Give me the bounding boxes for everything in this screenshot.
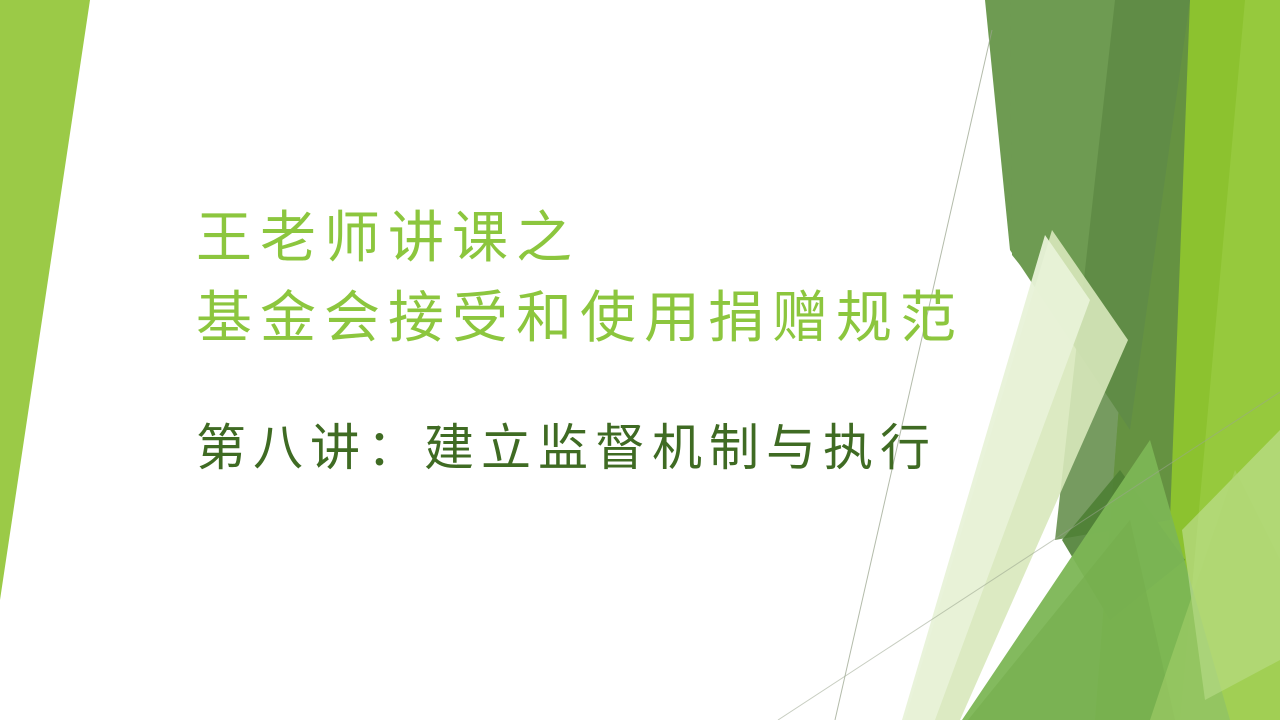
right-lime-band: [1095, 0, 1245, 720]
slide-decoration: [0, 0, 1280, 720]
olive-top-wedge-inner: [1010, 0, 1160, 380]
mid-green-bottom-triangle-2: [968, 520, 1175, 720]
dark-olive-overlay: [1055, 0, 1190, 540]
subtitle-line-1: 第八讲：建立监督机制与执行: [196, 412, 996, 484]
deep-green-triangle: [1062, 470, 1185, 620]
title-line-1: 王老师讲课之: [196, 198, 976, 278]
pale-right-sliver: [1150, 470, 1280, 720]
slide-title: 王老师讲课之 基金会接受和使用捐赠规范: [196, 198, 976, 358]
pale-upper-right-accent: [1182, 430, 1280, 700]
hairline-diagonal-upper: [835, 30, 992, 720]
title-line-2: 基金会接受和使用捐赠规范: [196, 278, 976, 358]
left-green-wedge: [0, 0, 90, 600]
presentation-slide: 王老师讲课之 基金会接受和使用捐赠规范 第八讲：建立监督机制与执行: [0, 0, 1280, 720]
right-bright-green-field: [1095, 0, 1280, 720]
olive-top-wedge: [985, 0, 1190, 430]
mid-green-bottom-triangle: [962, 440, 1230, 720]
slide-subtitle: 第八讲：建立监督机制与执行: [196, 412, 996, 484]
